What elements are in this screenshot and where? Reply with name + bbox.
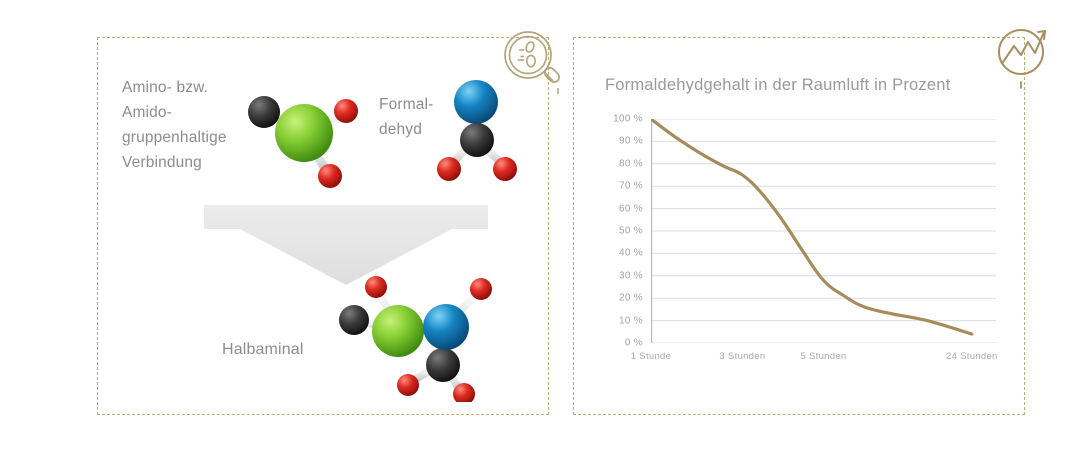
x-axis-tick: 5 Stunden (800, 351, 846, 362)
y-axis-tick: 20 % (619, 293, 643, 304)
infographic-stage: Amino- bzw. Amido- gruppenhaltige Verbin… (0, 0, 1080, 462)
x-axis-tick: 3 Stunden (719, 351, 765, 362)
y-axis-tick: 80 % (619, 158, 643, 169)
y-axis-tick: 0 % (625, 338, 643, 349)
y-axis-tick: 10 % (619, 315, 643, 326)
y-axis-tick: 30 % (619, 270, 643, 281)
amino-compound-molecule (236, 82, 376, 194)
x-axis: 1 Stunde3 Stunden5 Stunden24 Stunden (651, 119, 996, 379)
chart-title: Formaldehydgehalt in der Raumluft in Pro… (605, 76, 950, 95)
plot-area-wrapper: 100 %90 %80 %70 %60 %50 %40 %30 %20 %10 … (603, 119, 1003, 384)
y-axis: 100 %90 %80 %70 %60 %50 %40 %30 %20 %10 … (603, 119, 643, 343)
formaldehyde-molecule (432, 68, 524, 188)
y-axis-tick: 90 % (619, 136, 643, 147)
formaldehyde-decay-chart: Formaldehydgehalt in der Raumluft in Pro… (573, 37, 1025, 415)
halbaminal-molecule (326, 272, 510, 402)
y-axis-tick: 70 % (619, 181, 643, 192)
y-axis-tick: 40 % (619, 248, 643, 259)
y-axis-tick: 50 % (619, 226, 643, 237)
x-axis-tick: 24 Stunden (946, 351, 998, 362)
y-axis-tick: 100 % (613, 114, 643, 125)
y-axis-tick: 60 % (619, 203, 643, 214)
x-axis-tick: 1 Stunde (631, 351, 671, 362)
